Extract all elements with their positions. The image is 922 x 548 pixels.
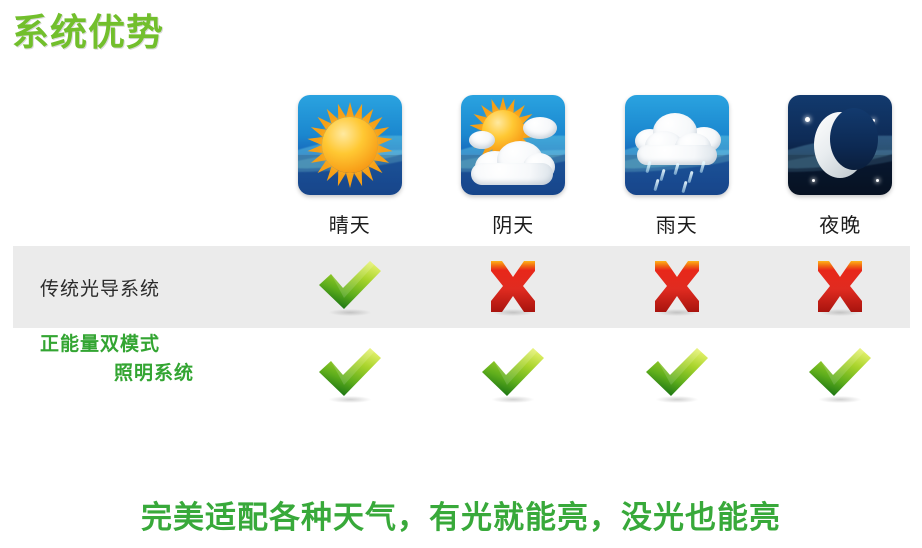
weather-column-sunny: 晴天 — [268, 95, 432, 238]
weather-label-night: 夜晚 — [819, 209, 861, 238]
sun-ray — [377, 134, 393, 144]
sun-behind-cloud-icon — [461, 95, 565, 195]
weather-label-cloudy: 阴天 — [492, 209, 534, 238]
weather-label-rainy: 雨天 — [656, 209, 698, 238]
star-icon — [812, 179, 815, 182]
sun-disc — [322, 117, 378, 173]
table-row: 正能量双模式 照明系统 — [0, 328, 922, 420]
check-icon — [642, 344, 712, 404]
cell-positive-sunny — [268, 344, 432, 404]
cell-legacy-sunny — [268, 257, 432, 317]
sun-ray — [307, 145, 323, 155]
cross-icon — [642, 257, 712, 317]
rain-cloud-icon — [625, 95, 729, 195]
cross-icon — [805, 257, 875, 317]
row-marks-legacy — [268, 257, 922, 317]
check-icon — [315, 257, 385, 317]
row-label-legacy: 传统光导系统 — [0, 274, 268, 301]
cross-icon — [478, 257, 548, 317]
row-label-text: 正能量双模式 照明系统 — [40, 334, 268, 414]
sun-icon — [298, 95, 402, 195]
weather-header-cells: 晴天 阴天 — [268, 95, 922, 238]
cloud-puff — [469, 131, 495, 149]
cloud-base — [471, 163, 553, 185]
weather-column-night: 夜晚 — [759, 95, 922, 238]
crescent-moon-icon — [788, 95, 892, 195]
row-marks-positive-energy — [268, 344, 922, 404]
cell-positive-cloudy — [432, 344, 596, 404]
check-icon — [478, 344, 548, 404]
table-row: 传统光导系统 — [0, 246, 922, 328]
weather-header-row: 晴天 阴天 — [0, 86, 922, 246]
row-label-positive-energy: 正能量双模式 照明系统 — [0, 330, 268, 418]
cell-positive-night — [759, 344, 922, 404]
check-icon — [805, 344, 875, 404]
moon-cutout — [830, 108, 878, 170]
cell-positive-rainy — [595, 344, 759, 404]
tagline: 完美适配各种天气，有光就能亮，没光也能亮 — [0, 492, 922, 537]
cell-legacy-rainy — [595, 257, 759, 317]
weather-column-rainy: 雨天 — [595, 95, 759, 238]
cell-legacy-cloudy — [432, 257, 596, 317]
weather-comparison-matrix: 晴天 阴天 — [0, 86, 922, 420]
row-label-line1: 正能量双模式 — [40, 334, 160, 355]
star-icon — [876, 179, 879, 182]
cloud-puff — [523, 117, 557, 139]
row-label-text: 传统光导系统 — [40, 279, 160, 300]
sun-ray — [346, 102, 354, 117]
star-icon — [805, 117, 810, 122]
row-label-line2: 照明系统 — [40, 359, 268, 388]
page-title: 系统优势 — [12, 2, 164, 56]
weather-column-cloudy: 阴天 — [432, 95, 596, 238]
check-icon — [315, 344, 385, 404]
sun-ray — [346, 173, 354, 188]
weather-label-sunny: 晴天 — [329, 209, 371, 238]
moon-shape — [814, 112, 866, 178]
cell-legacy-night — [759, 257, 922, 317]
